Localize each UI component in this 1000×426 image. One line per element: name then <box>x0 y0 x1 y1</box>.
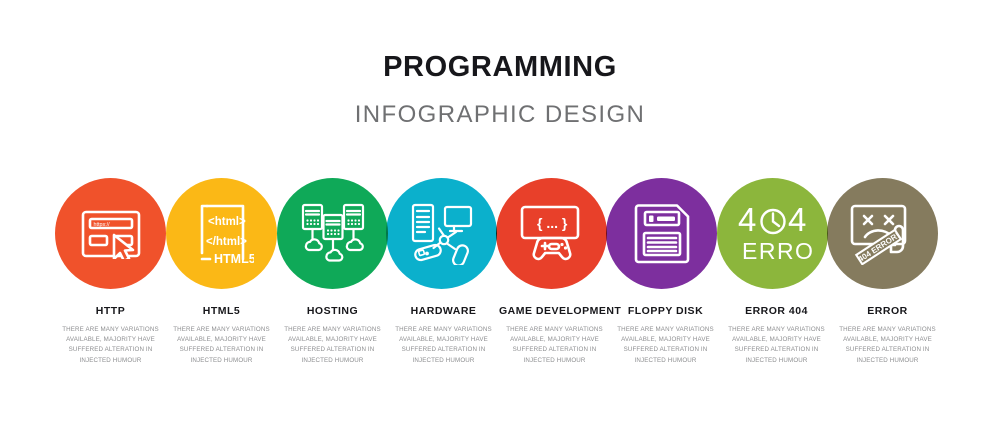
gamepad-code-screen-icon: { ... } <box>496 178 607 289</box>
html5-tag-icon: <html> </html> HTML5 <box>166 178 277 289</box>
label-col-hosting: HOSTING THERE ARE MANY VARIATIONS AVAILA… <box>277 305 388 366</box>
label-col-http: HTTP THERE ARE MANY VARIATIONS AVAILABLE… <box>55 305 166 366</box>
svg-text:</html>: </html> <box>206 236 247 248</box>
label-body-game-development: THERE ARE MANY VARIATIONS AVAILABLE, MAJ… <box>499 325 610 366</box>
circle-error-404[interactable]: 4 4 ERROR <box>717 178 828 289</box>
label-body-error-404: THERE ARE MANY VARIATIONS AVAILABLE, MAJ… <box>721 325 832 366</box>
label-col-floppy-disk: FLOPPY DISK THERE ARE MANY VARIATIONS AV… <box>610 305 721 366</box>
svg-text:https://: https:// <box>93 222 110 228</box>
label-title-floppy-disk: FLOPPY DISK <box>610 305 721 317</box>
circle-html5[interactable]: <html> </html> HTML5 <box>166 178 277 289</box>
label-title-http: HTTP <box>55 305 166 317</box>
circle-game-development[interactable]: { ... } <box>496 178 607 289</box>
label-body-hardware: THERE ARE MANY VARIATIONS AVAILABLE, MAJ… <box>388 325 499 366</box>
svg-text:404 ERROR!: 404 ERROR! <box>856 230 900 263</box>
infographic-header: PROGRAMMING INFOGRAPHIC DESIGN <box>0 0 1000 128</box>
label-title-game-development: GAME DEVELOPMENT <box>499 305 610 317</box>
label-body-html5: THERE ARE MANY VARIATIONS AVAILABLE, MAJ… <box>166 325 277 366</box>
circle-hardware[interactable] <box>386 178 497 289</box>
label-body-floppy-disk: THERE ARE MANY VARIATIONS AVAILABLE, MAJ… <box>610 325 721 366</box>
label-title-hosting: HOSTING <box>277 305 388 317</box>
computer-hardware-devices-icon <box>386 178 497 289</box>
404-clock-error-icon: 4 4 ERROR <box>717 178 828 289</box>
page-subtitle: INFOGRAPHIC DESIGN <box>0 84 1000 128</box>
svg-text:ERROR: ERROR <box>742 238 812 264</box>
page-title: PROGRAMMING <box>0 0 1000 84</box>
circle-icon-row: https:// <html> </html> HTML5 <box>0 178 1000 290</box>
label-body-http: THERE ARE MANY VARIATIONS AVAILABLE, MAJ… <box>55 325 166 366</box>
browser-window-cursor-icon: https:// <box>55 178 166 289</box>
svg-text:HTML5: HTML5 <box>214 252 254 265</box>
label-title-hardware: HARDWARE <box>388 305 499 317</box>
floppy-disk-icon <box>606 178 717 289</box>
label-col-error-404: ERROR 404 THERE ARE MANY VARIATIONS AVAI… <box>721 305 832 366</box>
circle-error[interactable]: 404 ERROR! <box>827 178 938 289</box>
svg-text:<html>: <html> <box>208 216 246 228</box>
label-body-error: THERE ARE MANY VARIATIONS AVAILABLE, MAJ… <box>832 325 943 366</box>
circle-floppy-disk[interactable] <box>606 178 717 289</box>
label-col-game-development: GAME DEVELOPMENT THERE ARE MANY VARIATIO… <box>499 305 610 366</box>
circle-hosting[interactable] <box>277 178 388 289</box>
svg-text:4: 4 <box>738 203 758 238</box>
label-title-error-404: ERROR 404 <box>721 305 832 317</box>
sad-screen-error-icon: 404 ERROR! <box>827 178 938 289</box>
label-col-error: ERROR THERE ARE MANY VARIATIONS AVAILABL… <box>832 305 943 366</box>
label-col-hardware: HARDWARE THERE ARE MANY VARIATIONS AVAIL… <box>388 305 499 366</box>
circle-http[interactable]: https:// <box>55 178 166 289</box>
label-body-hosting: THERE ARE MANY VARIATIONS AVAILABLE, MAJ… <box>277 325 388 366</box>
svg-text:4: 4 <box>788 203 808 238</box>
label-title-error: ERROR <box>832 305 943 317</box>
label-title-html5: HTML5 <box>166 305 277 317</box>
label-col-html5: HTML5 THERE ARE MANY VARIATIONS AVAILABL… <box>166 305 277 366</box>
label-row: HTTP THERE ARE MANY VARIATIONS AVAILABLE… <box>0 305 1000 366</box>
server-cloud-hosting-icon <box>277 178 388 289</box>
svg-text:{ ... }: { ... } <box>537 215 568 231</box>
